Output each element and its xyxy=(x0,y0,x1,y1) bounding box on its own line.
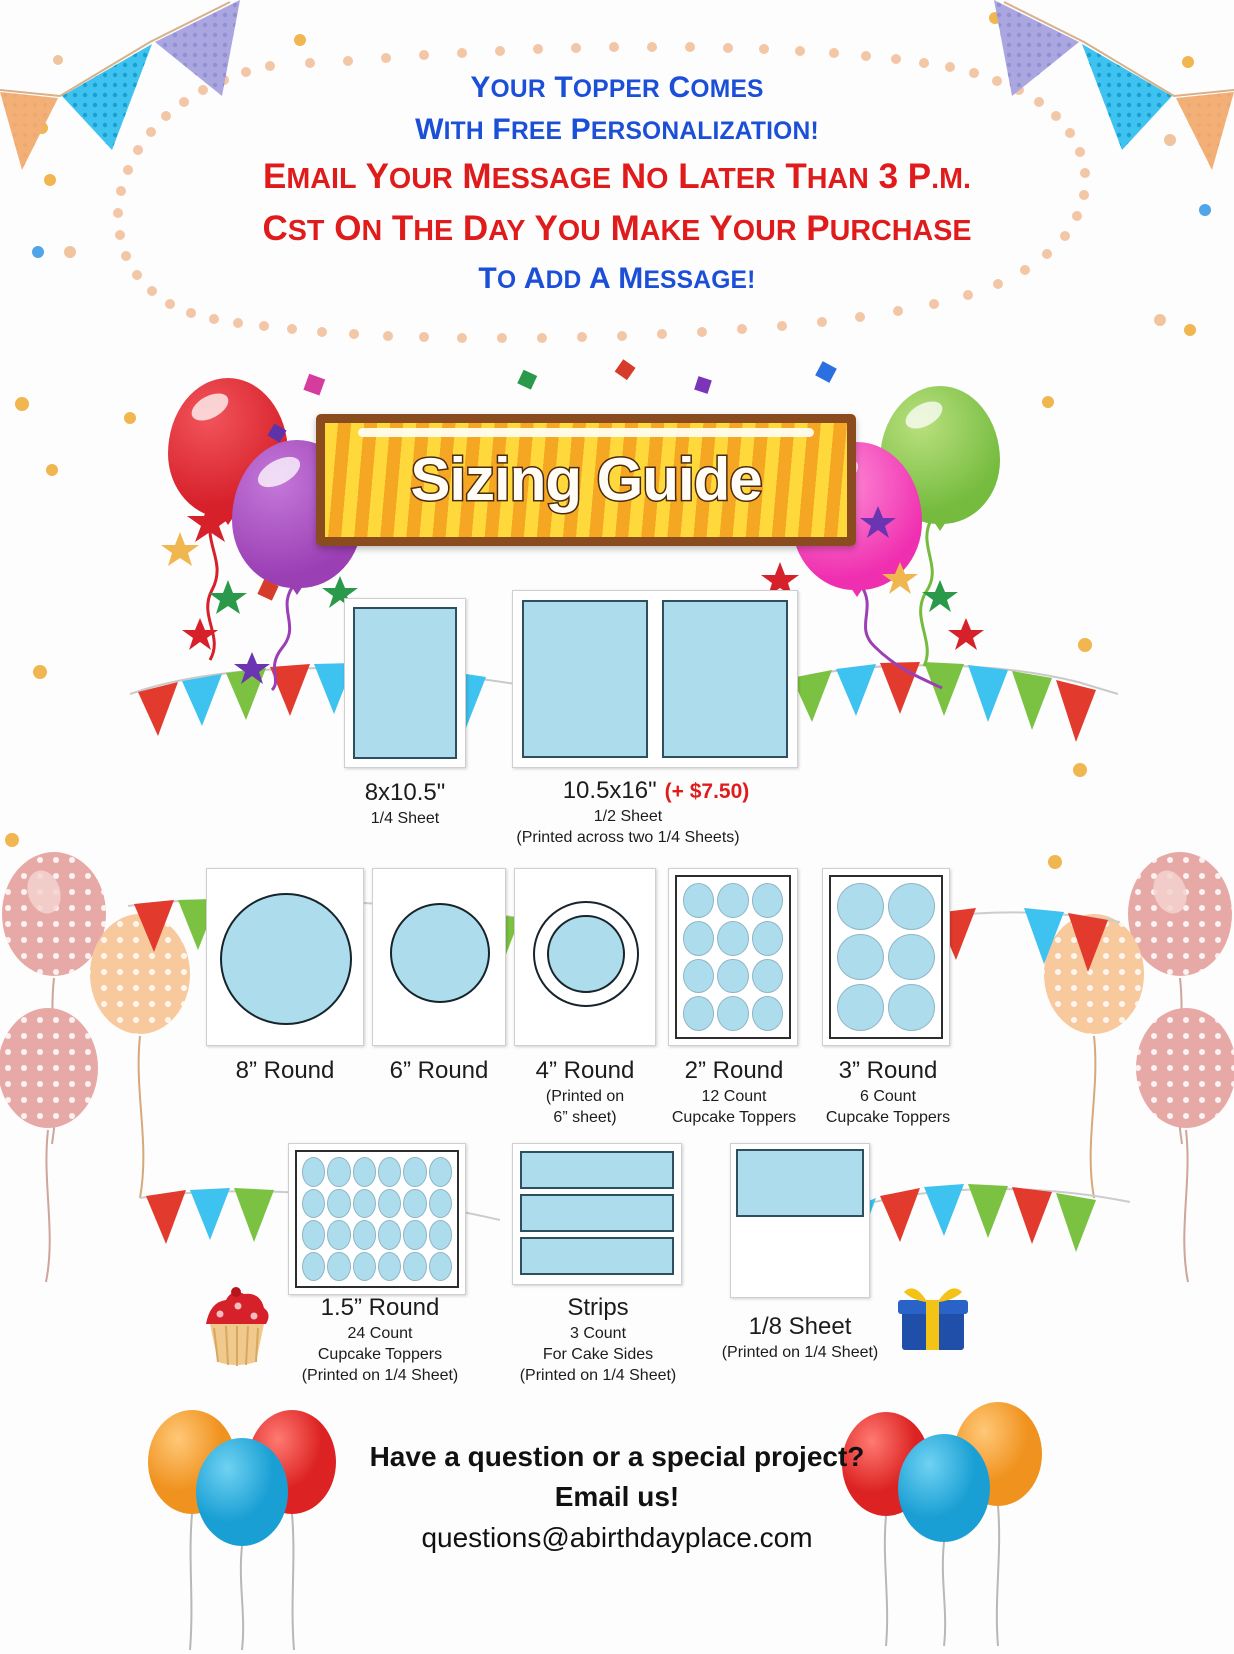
1-5-inch-round-dot-grid xyxy=(302,1157,452,1281)
quarter-sheet-size-label: 8x10.5" xyxy=(300,778,510,808)
caption-quarter-sheet: 8x10.5" 1/4 Sheet xyxy=(300,778,510,829)
topper-circle xyxy=(429,1189,452,1219)
strips-sub-3: (Printed on 1/4 Sheet) xyxy=(500,1365,696,1386)
half-sheet-sub-label: 1/2 Sheet xyxy=(508,806,748,827)
3-inch-round-inner-frame xyxy=(829,875,943,1039)
strips-sub-2: For Cake Sides xyxy=(500,1344,696,1365)
topper-circle xyxy=(752,996,783,1031)
6-inch-round-paper xyxy=(372,868,506,1046)
2-inch-round-paper xyxy=(668,868,798,1046)
2-inch-round-inner-frame xyxy=(675,875,791,1039)
topper-circle xyxy=(717,959,748,994)
topper-circle xyxy=(837,883,884,930)
topper-circle xyxy=(429,1157,452,1187)
topper-circle xyxy=(378,1189,401,1219)
figure-strips xyxy=(512,1143,682,1285)
strip-swatch-3 xyxy=(520,1237,674,1275)
4-inch-round-paper xyxy=(514,868,656,1046)
strips-paper xyxy=(512,1143,682,1285)
1-5-inch-round-inner-frame xyxy=(295,1150,459,1288)
header-line-4: CST ON THE DAY YOU MAKE YOUR PURCHASE xyxy=(0,204,1234,256)
topper-circle xyxy=(327,1189,350,1219)
topper-circle xyxy=(378,1157,401,1187)
mid-bunting-right-decoration xyxy=(788,658,1118,748)
purple-balloon-string xyxy=(252,582,342,692)
topper-circle xyxy=(302,1252,325,1282)
topper-circle xyxy=(403,1189,426,1219)
3-inch-round-dot-grid xyxy=(837,883,935,1031)
topper-circle xyxy=(429,1252,452,1282)
topper-circle xyxy=(403,1157,426,1187)
topper-circle xyxy=(327,1157,350,1187)
sizing-guide-banner: Sizing Guide xyxy=(316,414,856,546)
topper-circle xyxy=(403,1220,426,1250)
eighth-sheet-label: 1/8 Sheet xyxy=(700,1312,900,1342)
cupcake-icon xyxy=(192,1280,282,1370)
topper-circle xyxy=(302,1189,325,1219)
magenta-balloon-string xyxy=(850,584,960,694)
topper-circle xyxy=(302,1220,325,1250)
right-pastel-balloons-decoration xyxy=(1034,852,1234,1312)
footer-email[interactable]: questions@abirthdayplace.com xyxy=(0,1517,1234,1559)
topper-circle xyxy=(353,1220,376,1250)
topper-circle xyxy=(717,883,748,918)
topper-circle xyxy=(752,921,783,956)
bottom-row-bunting-right-decoration xyxy=(830,1176,1130,1266)
2-inch-round-dot-grid xyxy=(683,883,783,1031)
footer-contact-block: Have a question or a special project? Em… xyxy=(0,1437,1234,1559)
half-sheet-paper xyxy=(512,590,798,768)
header-line-3: EMAIL YOUR MESSAGE NO LATER THAN 3 P.M. xyxy=(0,152,1234,204)
2-inch-round-sub-2: Cupcake Toppers xyxy=(644,1107,824,1128)
figure-eighth-sheet xyxy=(730,1143,870,1298)
header-line-2: WITH FREE PERSONALIZATION! xyxy=(0,110,1234,152)
strip-swatch-1 xyxy=(520,1151,674,1189)
balloon-shine xyxy=(901,396,947,434)
topper-circle xyxy=(353,1157,376,1187)
topper-circle xyxy=(752,883,783,918)
3-inch-round-sub-1: 6 Count xyxy=(798,1086,978,1107)
green-balloon-decoration xyxy=(880,386,1000,524)
topper-circle xyxy=(683,996,714,1031)
figure-4-inch-round xyxy=(514,868,656,1046)
green-balloon-string xyxy=(900,518,990,668)
quarter-sheet-paper xyxy=(344,598,466,768)
header-message-block: YOUR TOPPER COMES WITH FREE PERSONALIZAT… xyxy=(0,68,1234,304)
half-sheet-swatch-left xyxy=(522,600,648,758)
figure-quarter-sheet xyxy=(344,598,466,768)
red-balloon-string xyxy=(196,512,276,662)
half-sheet-note: (Printed across two 1/4 Sheets) xyxy=(508,827,748,848)
topper-circle xyxy=(683,883,714,918)
red-balloon-decoration xyxy=(168,378,288,518)
header-line-5: TO ADD A MESSAGE! xyxy=(0,256,1234,304)
figure-6-inch-round xyxy=(372,868,506,1046)
topper-circle xyxy=(353,1252,376,1282)
topper-circle xyxy=(403,1252,426,1282)
figure-8-inch-round xyxy=(206,868,364,1046)
topper-circle xyxy=(683,921,714,956)
3-inch-round-paper xyxy=(822,868,950,1046)
1-5-inch-round-label: 1.5” Round xyxy=(282,1293,478,1323)
topper-circle xyxy=(327,1252,350,1282)
topper-circle xyxy=(752,959,783,994)
quarter-sheet-swatch xyxy=(353,607,457,759)
6-inch-round-swatch xyxy=(390,903,490,1003)
figure-2-inch-round xyxy=(668,868,798,1046)
caption-3-inch-round: 3” Round 6 Count Cupcake Toppers xyxy=(798,1056,978,1128)
2-inch-round-label: 2” Round xyxy=(644,1056,824,1086)
figure-3-inch-round xyxy=(822,868,950,1046)
eighth-sheet-swatch xyxy=(736,1149,864,1217)
topper-circle xyxy=(353,1189,376,1219)
topper-circle xyxy=(888,934,935,981)
strips-label: Strips xyxy=(500,1293,696,1323)
gift-box-icon xyxy=(890,1274,976,1360)
balloon-shine xyxy=(187,388,233,426)
footer-line-1: Have a question or a special project? xyxy=(0,1437,1234,1477)
caption-2-inch-round: 2” Round 12 Count Cupcake Toppers xyxy=(644,1056,824,1128)
half-sheet-swatch-right xyxy=(662,600,788,758)
topper-circle xyxy=(837,984,884,1031)
1-5-inch-round-sub-2: Cupcake Toppers xyxy=(282,1344,478,1365)
strips-sub-1: 3 Count xyxy=(500,1323,696,1344)
topper-circle xyxy=(888,984,935,1031)
footer-line-2: Email us! xyxy=(0,1477,1234,1517)
topper-circle xyxy=(717,996,748,1031)
2-inch-round-sub-1: 12 Count xyxy=(644,1086,824,1107)
mid-bunting-left-decoration xyxy=(130,660,530,750)
topper-circle xyxy=(888,883,935,930)
1-5-inch-round-sub-1: 24 Count xyxy=(282,1323,478,1344)
caption-1-5-inch-round: 1.5” Round 24 Count Cupcake Toppers (Pri… xyxy=(282,1293,478,1386)
3-inch-round-sub-2: Cupcake Toppers xyxy=(798,1107,978,1128)
header-line-1: YOUR TOPPER COMES xyxy=(0,68,1234,110)
strip-swatch-2 xyxy=(520,1194,674,1232)
banner-title: Sizing Guide xyxy=(316,444,856,516)
caption-half-sheet: 10.5x16" (+ $7.50) 1/2 Sheet (Printed ac… xyxy=(508,776,804,848)
3-inch-round-label: 3” Round xyxy=(798,1056,978,1086)
half-sheet-surcharge: (+ $7.50) xyxy=(665,780,750,804)
topper-circle xyxy=(327,1220,350,1250)
half-sheet-size-label: 10.5x16" xyxy=(563,776,657,806)
1-5-inch-round-sub-3: (Printed on 1/4 Sheet) xyxy=(282,1365,478,1386)
sizing-guide-poster: YOUR TOPPER COMES WITH FREE PERSONALIZAT… xyxy=(0,0,1234,1654)
figure-half-sheet xyxy=(512,590,798,768)
caption-eighth-sheet: 1/8 Sheet (Printed on 1/4 Sheet) xyxy=(700,1312,900,1363)
topper-circle xyxy=(302,1157,325,1187)
8-inch-round-paper xyxy=(206,868,364,1046)
topper-circle xyxy=(378,1220,401,1250)
topper-circle xyxy=(683,959,714,994)
balloon-shine xyxy=(253,451,305,494)
8-inch-round-swatch xyxy=(220,893,352,1025)
eighth-sheet-paper xyxy=(730,1143,870,1298)
quarter-sheet-sub-label: 1/4 Sheet xyxy=(300,808,510,829)
banner-gloss-highlight xyxy=(358,428,814,437)
caption-strips: Strips 3 Count For Cake Sides (Printed o… xyxy=(500,1293,696,1386)
eighth-sheet-sub-1: (Printed on 1/4 Sheet) xyxy=(700,1342,900,1363)
topper-circle xyxy=(429,1220,452,1250)
topper-circle xyxy=(717,921,748,956)
topper-circle xyxy=(378,1252,401,1282)
left-pastel-balloons-decoration xyxy=(0,852,200,1312)
1-5-inch-round-paper xyxy=(288,1143,466,1295)
topper-circle xyxy=(837,934,884,981)
figure-1-5-inch-round xyxy=(288,1143,466,1295)
4-inch-round-swatch xyxy=(547,915,625,993)
